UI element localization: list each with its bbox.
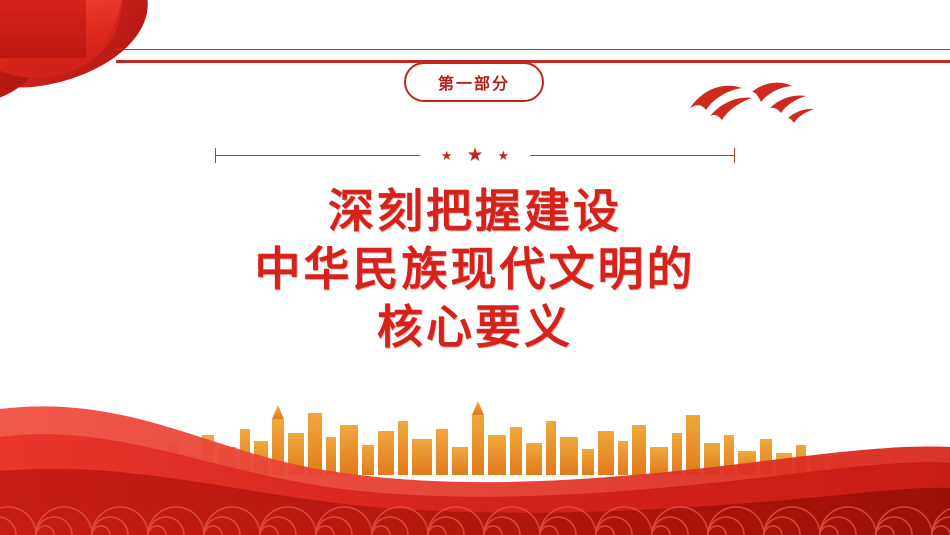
top-rule-thin [116,49,950,50]
slide-title: 深刻把握建设 中华民族现代文明的 核心要义 [0,182,950,356]
star-divider: ★ ★ ★ [215,146,735,166]
star-right-icon: ★ [498,149,510,162]
presentation-slide: 第一部分 ★ ★ ★ 深刻把握建设 中华民族现代文明的 核心要义 [0,0,950,535]
title-line-2: 中华民族现代文明的 [0,240,950,298]
star-left-icon: ★ [441,149,453,162]
section-badge-label: 第一部分 [438,70,510,94]
birds-icon [684,78,814,130]
title-line-1: 深刻把握建设 [0,182,950,240]
star-center-icon: ★ [466,146,483,165]
top-rule-thick [116,60,950,63]
title-line-3: 核心要义 [0,298,950,356]
cloud-pattern-decor [0,479,950,535]
section-badge: 第一部分 [404,62,544,102]
